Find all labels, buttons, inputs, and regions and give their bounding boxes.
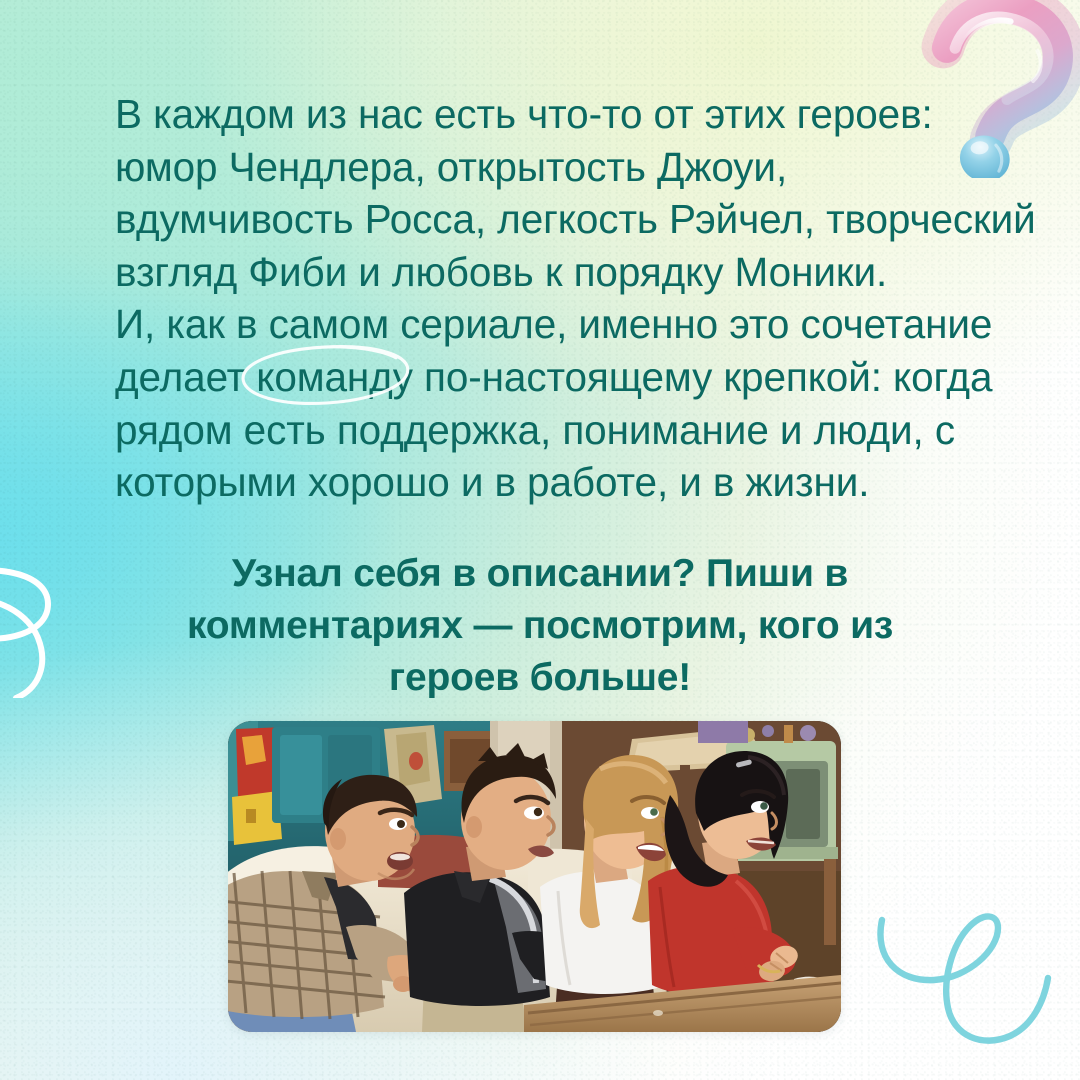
cta-text: Узнал себя в описании? Пиши в комментари… xyxy=(140,548,940,704)
body-copy: В каждом из нас есть что-то от этих геро… xyxy=(115,88,1045,509)
loop-squiggle-cyan-icon xyxy=(862,888,1072,1058)
cta-line: героев больше! xyxy=(140,652,940,704)
body-line: вдумчивость Росса, легкость Рэйчел, твор… xyxy=(115,193,1045,246)
body-line: взгляд Фиби и любовь к порядку Моники. xyxy=(115,246,1045,299)
body-line: В каждом из нас есть что-то от этих геро… xyxy=(115,88,1045,141)
body-line: И, как в самом сериале, именно это сочет… xyxy=(115,298,1045,351)
social-card: В каждом из нас есть что-то от этих геро… xyxy=(0,0,1080,1080)
photo-friends-scene xyxy=(228,721,841,1032)
body-line: делает команду по-настоящему крепкой: ко… xyxy=(115,351,1045,404)
body-line: рядом есть поддержка, понимание и люди, … xyxy=(115,404,1045,457)
body-line: которыми хорошо и в работе, и в жизни. xyxy=(115,456,1045,509)
cta-line: Узнал себя в описании? Пиши в xyxy=(140,548,940,600)
loop-squiggle-white-icon xyxy=(0,548,100,698)
cta-line: комментариях — посмотрим, кого из xyxy=(140,600,940,652)
body-line: юмор Чендлера, открытость Джоуи, xyxy=(115,141,1045,194)
